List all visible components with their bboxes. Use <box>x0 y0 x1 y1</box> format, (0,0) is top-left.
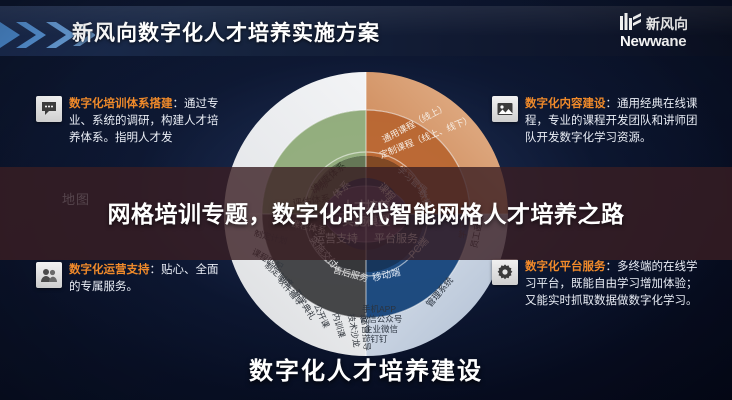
wheel-outer-label-14: 钉钉 <box>370 334 388 344</box>
callout-platform-service: 数字化平台服务：多终端的在线学习平台，既能自由学习增加体验；又能实时抓取数据做数… <box>492 259 706 310</box>
page-title: 新风向数字化人才培养实施方案 <box>72 17 380 47</box>
callout-title: 数字化培训体系搭建 <box>69 98 173 110</box>
callout-title: 数字化运营支持 <box>69 264 150 276</box>
newwane-bars-icon <box>620 13 642 35</box>
wheel-outer-label-11: 手机APP <box>362 304 396 314</box>
picture-icon <box>492 96 518 122</box>
bottom-caption: 数字化人才培养建设 <box>0 351 732 386</box>
callout-text: 数字化运营支持：贴心、全面的专属服务。 <box>69 262 228 296</box>
callout-content-construction: 数字化内容建设：通用经典在线课程，专业的课程开发团队和讲师团队开发数字化学习资源… <box>492 96 706 147</box>
callout-text: 数字化内容建设：通用经典在线课程，专业的课程开发团队和讲师团队开发数字化学习资源… <box>525 96 706 147</box>
gear-icon <box>492 259 518 285</box>
wheel-outer-label-13: 企业微信 <box>364 324 399 334</box>
callout-title: 数字化平台服务 <box>525 261 606 273</box>
slide-canvas: 新风向数字化人才培养实施方案 新风向 Newwane <box>0 0 732 400</box>
callout-separator: ： <box>150 264 162 276</box>
callout-separator: ： <box>606 98 618 110</box>
slide-header: 新风向数字化人才培养实施方案 新风向 Newwane <box>0 6 732 56</box>
callout-operation-support: 数字化运营支持：贴心、全面的专属服务。 <box>36 262 228 296</box>
users-icon <box>36 262 62 288</box>
article-title: 网格培训专题，数字化时代智能网格人才培养之路 <box>0 167 732 260</box>
callout-separator: ： <box>606 261 618 273</box>
callout-training-system: 数字化培训体系搭建：通过专业、系统的调研，构建人才培养体系。指明人才发 <box>36 96 228 147</box>
callout-text: 数字化平台服务：多终端的在线学习平台，既能自由学习增加体验；又能实时抓取数据做数… <box>525 259 706 310</box>
wheel-outer-label-12: 微信公众号 <box>360 314 403 324</box>
callout-title: 数字化内容建设 <box>525 98 606 110</box>
speech-bubble-icon <box>36 96 62 122</box>
callout-separator: ： <box>173 98 185 110</box>
brand-logo: 新风向 Newwane <box>620 14 716 52</box>
callout-text: 数字化培训体系搭建：通过专业、系统的调研，构建人才培养体系。指明人才发 <box>69 96 228 147</box>
logo-text-en: Newwane <box>620 33 716 50</box>
logo-text-cn: 新风向 <box>646 14 688 34</box>
